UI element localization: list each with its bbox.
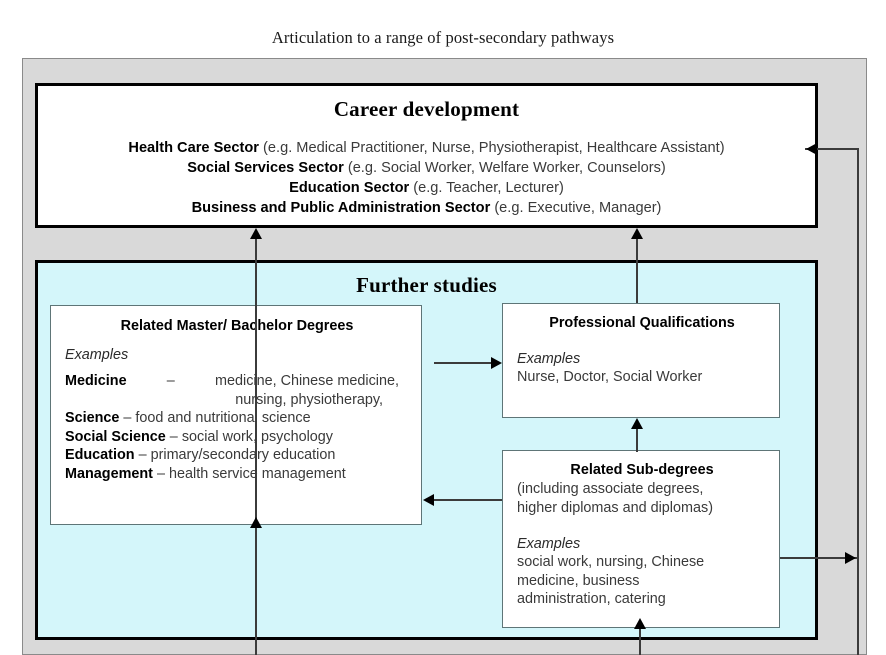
degree-label: Management (65, 466, 153, 482)
degree-text: social work, psychology (182, 429, 333, 445)
degree-row: Education – primary/secondary education (65, 446, 409, 465)
degree-text: health service management (169, 466, 346, 482)
sector-detail: (e.g. Medical Practitioner, Nurse, Physi… (259, 140, 725, 156)
degree-text: primary/secondary education (151, 447, 336, 463)
degree-dash: – (139, 447, 147, 463)
arrow-left-subdegrees-to-degrees-icon (423, 494, 434, 506)
sector-label: Health Care Sector (128, 140, 259, 156)
related-subdegrees-title: Related Sub-degrees (517, 462, 767, 478)
diagram-canvas: Articulation to a range of post-secondar… (0, 0, 886, 655)
connector-subdegrees-to-degrees (434, 499, 502, 501)
connector-right-vertical-bus (857, 148, 859, 655)
degree-text: medicine, Chinese medicine, (215, 372, 399, 391)
connector-degrees-to-professional (434, 362, 494, 364)
arrow-up-subdegrees-to-professional-icon (631, 418, 643, 429)
degree-row-continued: nursing, physiotherapy, (65, 391, 383, 410)
career-sector-row: Health Care Sector (e.g. Medical Practit… (38, 138, 815, 158)
degree-row: Social Science – social work, psychology (65, 428, 409, 447)
related-degrees-title: Related Master/ Bachelor Degrees (65, 318, 409, 334)
career-development-heading: Career development (38, 97, 815, 122)
arrow-up-professional-to-career-icon (631, 228, 643, 239)
related-degrees-list: Medicine – medicine, Chinese medicine, n… (65, 372, 409, 483)
degree-label: Education (65, 447, 135, 463)
degree-label: Science (65, 410, 119, 426)
career-sector-row: Social Services Sector (e.g. Social Work… (38, 158, 815, 178)
career-sector-list: Health Care Sector (e.g. Medical Practit… (38, 138, 815, 218)
professional-qualifications-title: Professional Qualifications (517, 315, 767, 331)
degree-text: food and nutritional science (135, 410, 310, 426)
degree-row: Science – food and nutritional science (65, 409, 409, 428)
degree-dash: – (170, 429, 178, 445)
subdegrees-example-line: medicine, business (517, 572, 767, 591)
related-degrees-card: Related Master/ Bachelor Degrees Example… (50, 305, 422, 525)
arrow-right-degrees-to-professional-icon (491, 357, 502, 369)
degree-dash: – (123, 410, 131, 426)
professional-qualifications-card: Professional Qualifications Examples Nur… (502, 303, 780, 418)
professional-examples-label: Examples (517, 351, 767, 367)
degree-dash: – (167, 372, 175, 391)
sector-detail: (e.g. Social Worker, Welfare Worker, Cou… (344, 160, 666, 176)
sector-detail: (e.g. Teacher, Lecturer) (409, 180, 564, 196)
career-sector-row: Business and Public Administration Secto… (38, 198, 815, 218)
connector-subdegrees-to-professional (636, 428, 638, 452)
related-subdegrees-card: Related Sub-degrees (including associate… (502, 450, 780, 628)
subdegrees-paren-line: (including associate degrees, (517, 480, 767, 499)
degree-label: Social Science (65, 429, 166, 445)
connector-below-subdegrees (639, 628, 641, 655)
degree-dash: – (157, 466, 165, 482)
subdegrees-example-line: social work, nursing, Chinese (517, 553, 767, 572)
subdegrees-example-line: administration, catering (517, 590, 767, 609)
sector-label: Education Sector (289, 180, 409, 196)
arrow-right-subdegrees-to-bus-icon (845, 552, 856, 564)
professional-examples-text: Nurse, Doctor, Social Worker (517, 368, 767, 387)
degree-row: Management – health service management (65, 465, 409, 484)
degree-row: Medicine – medicine, Chinese medicine, (65, 372, 409, 391)
arrow-up-degrees-to-career-icon (250, 228, 262, 239)
sector-label: Business and Public Administration Secto… (192, 200, 491, 216)
subdegrees-paren-line: higher diplomas and diplomas) (517, 499, 767, 518)
related-degrees-examples-label: Examples (65, 347, 409, 363)
career-development-panel: Career development Health Care Sector (e… (35, 83, 818, 228)
subdegrees-examples-label: Examples (517, 536, 767, 552)
sector-detail: (e.g. Executive, Manager) (490, 200, 661, 216)
subdegrees-examples-text: social work, nursing, Chinese medicine, … (517, 553, 767, 609)
connector-degrees-to-career (255, 238, 257, 655)
career-sector-row: Education Sector (e.g. Teacher, Lecturer… (38, 178, 815, 198)
arrow-up-into-degrees-icon (250, 517, 262, 528)
further-studies-heading: Further studies (38, 273, 815, 298)
connector-professional-to-career (636, 238, 638, 303)
sector-label: Social Services Sector (187, 160, 344, 176)
arrow-left-bus-into-career-icon (806, 143, 817, 155)
arrow-up-into-subdegrees-icon (634, 618, 646, 629)
related-subdegrees-subtitle: (including associate degrees, higher dip… (517, 480, 767, 518)
degree-label: Medicine (65, 372, 127, 391)
page-title: Articulation to a range of post-secondar… (0, 28, 886, 48)
